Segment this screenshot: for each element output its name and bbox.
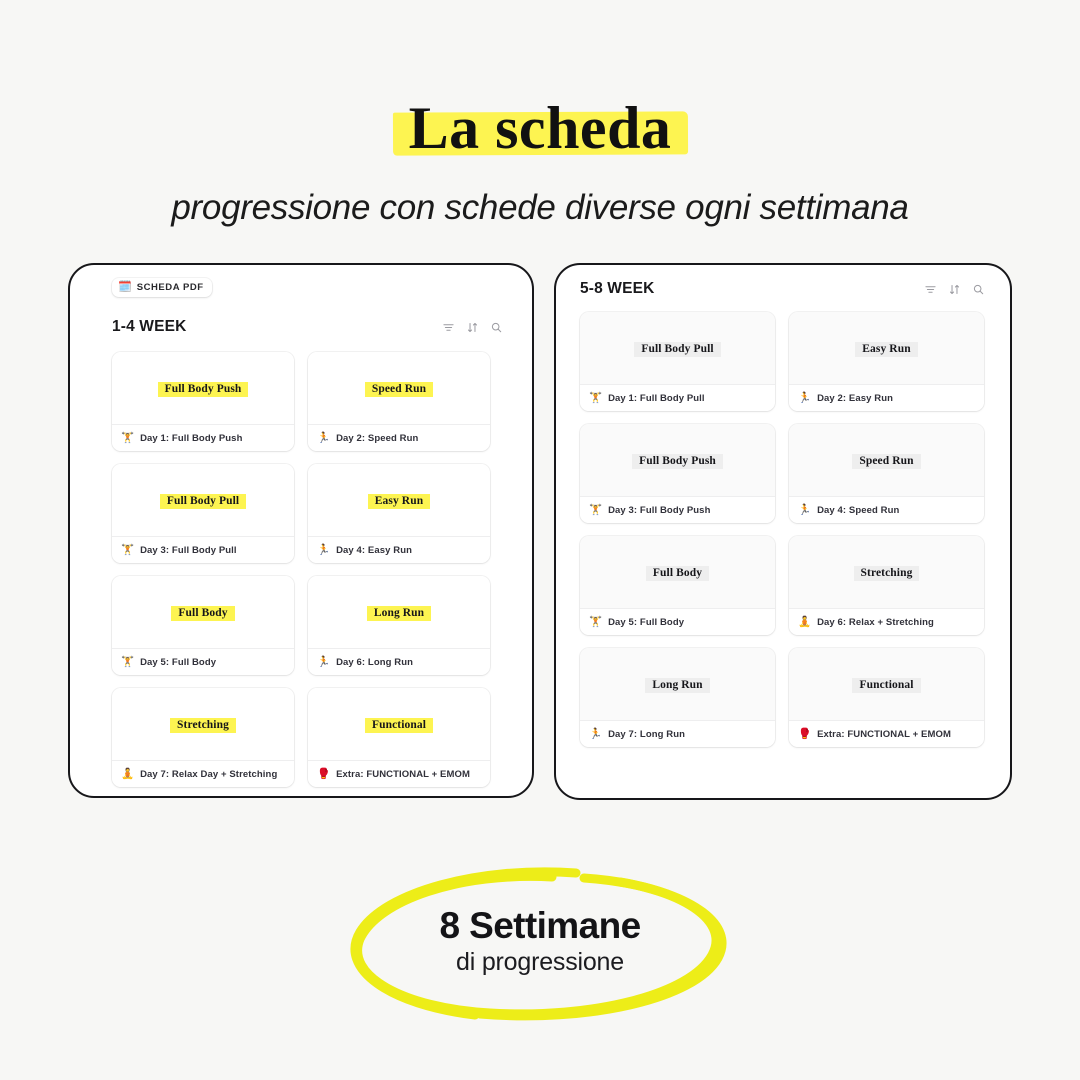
day-card[interactable]: Full Body Push 🏋️ Day 1: Full Body Push xyxy=(112,352,294,451)
day-card-caption-row: 🧘 Day 6: Relax + Stretching xyxy=(789,609,984,635)
search-icon[interactable] xyxy=(491,322,502,333)
filter-icon[interactable] xyxy=(443,322,454,333)
runner-icon: 🏃 xyxy=(317,657,330,668)
day-card-label: Full Body Push xyxy=(158,382,249,397)
day-card-preview: Long Run xyxy=(308,576,490,649)
day-card-caption-row: 🏃 Day 7: Long Run xyxy=(580,721,775,747)
day-card-label: Stretching xyxy=(170,718,236,733)
panel-weeks-1-4: 🗓️ SCHEDA PDF 1-4 WEEK xyxy=(68,263,534,798)
meditation-icon: 🧘 xyxy=(798,617,811,628)
scheda-pdf-badge[interactable]: 🗓️ SCHEDA PDF xyxy=(112,278,212,297)
day-card[interactable]: Long Run 🏃 Day 6: Long Run xyxy=(308,576,490,675)
day-card-caption: Day 7: Relax Day + Stretching xyxy=(140,769,277,780)
sort-icon[interactable] xyxy=(949,284,960,295)
day-card[interactable]: Easy Run 🏃 Day 4: Easy Run xyxy=(308,464,490,563)
day-card[interactable]: Full Body Push 🏋️ Day 3: Full Body Push xyxy=(580,424,775,523)
boxing-glove-icon: 🥊 xyxy=(317,769,330,780)
weightlifter-icon: 🏋️ xyxy=(121,433,134,444)
day-card-caption: Day 6: Long Run xyxy=(336,657,413,668)
day-card-preview: Functional xyxy=(308,688,490,761)
weightlifter-icon: 🏋️ xyxy=(589,393,602,404)
day-card-label: Full Body Pull xyxy=(634,342,720,357)
day-card-caption: Day 4: Easy Run xyxy=(336,545,412,556)
panel-right-header: 5-8 WEEK xyxy=(556,265,1010,298)
runner-icon: 🏃 xyxy=(798,505,811,516)
day-card-caption-row: 🥊 Extra: FUNCTIONAL + EMOM xyxy=(789,721,984,747)
runner-icon: 🏃 xyxy=(589,729,602,740)
panel-right-day-grid: Full Body Pull 🏋️ Day 1: Full Body Pull … xyxy=(556,298,1010,747)
day-card-caption: Day 1: Full Body Push xyxy=(140,433,242,444)
day-card-caption: Day 4: Speed Run xyxy=(817,505,899,516)
day-card[interactable]: Full Body 🏋️ Day 5: Full Body xyxy=(580,536,775,635)
day-card-caption: Day 2: Speed Run xyxy=(336,433,418,444)
sort-icon[interactable] xyxy=(467,322,478,333)
day-card-label: Long Run xyxy=(367,606,431,621)
day-card-preview: Easy Run xyxy=(308,464,490,537)
hero-section: La scheda progressione con schede divers… xyxy=(0,0,1080,228)
day-card-caption: Day 3: Full Body Pull xyxy=(140,545,237,556)
day-card-caption: Day 3: Full Body Push xyxy=(608,505,710,516)
day-card-caption-row: 🏋️ Day 3: Full Body Pull xyxy=(112,537,294,563)
day-card-label: Functional xyxy=(365,718,433,733)
progression-headline: 8 Settimane xyxy=(439,907,640,946)
weightlifter-icon: 🏋️ xyxy=(121,545,134,556)
day-card-preview: Full Body Push xyxy=(112,352,294,425)
day-card[interactable]: Stretching 🧘 Day 6: Relax + Stretching xyxy=(789,536,984,635)
day-card-label: Speed Run xyxy=(852,454,920,469)
day-card-caption: Extra: FUNCTIONAL + EMOM xyxy=(336,769,470,780)
day-card-preview: Full Body Pull xyxy=(580,312,775,385)
day-card-caption: Day 5: Full Body xyxy=(140,657,216,668)
day-card-label: Speed Run xyxy=(365,382,433,397)
day-card-preview: Stretching xyxy=(112,688,294,761)
day-card-label: Easy Run xyxy=(368,494,430,509)
day-card[interactable]: Full Body Pull 🏋️ Day 1: Full Body Pull xyxy=(580,312,775,411)
footer-section: 8 Settimane di progressione xyxy=(0,862,1080,1022)
day-card-caption-row: 🥊 Extra: FUNCTIONAL + EMOM xyxy=(308,761,490,787)
day-card-caption: Day 6: Relax + Stretching xyxy=(817,617,934,628)
day-card-preview: Stretching xyxy=(789,536,984,609)
day-card-caption-row: 🏋️ Day 1: Full Body Pull xyxy=(580,385,775,411)
weightlifter-icon: 🏋️ xyxy=(589,505,602,516)
day-card-caption-row: 🏃 Day 2: Easy Run xyxy=(789,385,984,411)
calendar-icon: 🗓️ xyxy=(118,282,132,293)
day-card-caption: Extra: FUNCTIONAL + EMOM xyxy=(817,729,951,740)
runner-icon: 🏃 xyxy=(317,545,330,556)
day-card-preview: Functional xyxy=(789,648,984,721)
meditation-icon: 🧘 xyxy=(121,769,134,780)
panels-container: 🗓️ SCHEDA PDF 1-4 WEEK xyxy=(68,263,1012,800)
day-card-caption-row: 🏃 Day 6: Long Run xyxy=(308,649,490,675)
day-card-label: Full Body Push xyxy=(632,454,723,469)
day-card-label: Full Body xyxy=(646,566,709,581)
day-card-caption: Day 2: Easy Run xyxy=(817,393,893,404)
filter-icon[interactable] xyxy=(925,284,936,295)
day-card-caption-row: 🏋️ Day 5: Full Body xyxy=(580,609,775,635)
progression-badge-text: 8 Settimane di progressione xyxy=(439,907,640,977)
day-card-caption-row: 🏃 Day 2: Speed Run xyxy=(308,425,490,451)
day-card-label: Full Body xyxy=(171,606,234,621)
day-card-caption-row: 🏃 Day 4: Easy Run xyxy=(308,537,490,563)
day-card-label: Full Body Pull xyxy=(160,494,246,509)
weightlifter-icon: 🏋️ xyxy=(121,657,134,668)
day-card-caption: Day 5: Full Body xyxy=(608,617,684,628)
day-card[interactable]: Full Body Pull 🏋️ Day 3: Full Body Pull xyxy=(112,464,294,563)
day-card-caption-row: 🏋️ Day 3: Full Body Push xyxy=(580,497,775,523)
weightlifter-icon: 🏋️ xyxy=(589,617,602,628)
day-card-label: Stretching xyxy=(854,566,920,581)
day-card-caption-row: 🏋️ Day 5: Full Body xyxy=(112,649,294,675)
day-card[interactable]: Full Body 🏋️ Day 5: Full Body xyxy=(112,576,294,675)
day-card-preview: Full Body Pull xyxy=(112,464,294,537)
day-card-caption: Day 7: Long Run xyxy=(608,729,685,740)
day-card-preview: Speed Run xyxy=(308,352,490,425)
search-icon[interactable] xyxy=(973,284,984,295)
day-card-caption-row: 🧘 Day 7: Relax Day + Stretching xyxy=(112,761,294,787)
day-card-preview: Full Body xyxy=(112,576,294,649)
panel-left-day-grid: Full Body Push 🏋️ Day 1: Full Body Push … xyxy=(70,336,532,787)
panel-weeks-5-8: 5-8 WEEK xyxy=(554,263,1012,800)
day-card[interactable]: Functional 🥊 Extra: FUNCTIONAL + EMOM xyxy=(308,688,490,787)
day-card-label: Functional xyxy=(852,678,920,693)
panel-right-title: 5-8 WEEK xyxy=(580,280,654,298)
progression-subline: di progressione xyxy=(439,948,640,977)
boxing-glove-icon: 🥊 xyxy=(798,729,811,740)
day-card-label: Long Run xyxy=(645,678,709,693)
page-subtitle: progressione con schede diverse ogni set… xyxy=(0,188,1080,228)
progression-badge: 8 Settimane di progressione xyxy=(340,863,740,1021)
day-card-caption-row: 🏃 Day 4: Speed Run xyxy=(789,497,984,523)
day-card-preview: Full Body Push xyxy=(580,424,775,497)
panel-left-title: 1-4 WEEK xyxy=(112,318,186,336)
panel-left-header-icons xyxy=(443,322,502,333)
panel-left-header: 1-4 WEEK xyxy=(70,265,532,336)
day-card-preview: Easy Run xyxy=(789,312,984,385)
day-card-preview: Long Run xyxy=(580,648,775,721)
page-title: La scheda xyxy=(393,96,688,162)
day-card[interactable]: Speed Run 🏃 Day 4: Speed Run xyxy=(789,424,984,523)
day-card-preview: Full Body xyxy=(580,536,775,609)
day-card-label: Easy Run xyxy=(855,342,917,357)
runner-icon: 🏃 xyxy=(798,393,811,404)
day-card[interactable]: Functional 🥊 Extra: FUNCTIONAL + EMOM xyxy=(789,648,984,747)
panel-right-header-icons xyxy=(925,284,984,295)
day-card-preview: Speed Run xyxy=(789,424,984,497)
day-card-caption: Day 1: Full Body Pull xyxy=(608,393,705,404)
day-card[interactable]: Long Run 🏃 Day 7: Long Run xyxy=(580,648,775,747)
day-card[interactable]: Stretching 🧘 Day 7: Relax Day + Stretchi… xyxy=(112,688,294,787)
day-card-caption-row: 🏋️ Day 1: Full Body Push xyxy=(112,425,294,451)
page-title-wrap: La scheda xyxy=(0,96,1080,162)
day-card[interactable]: Speed Run 🏃 Day 2: Speed Run xyxy=(308,352,490,451)
scheda-pdf-badge-label: SCHEDA PDF xyxy=(137,282,204,293)
runner-icon: 🏃 xyxy=(317,433,330,444)
day-card[interactable]: Easy Run 🏃 Day 2: Easy Run xyxy=(789,312,984,411)
